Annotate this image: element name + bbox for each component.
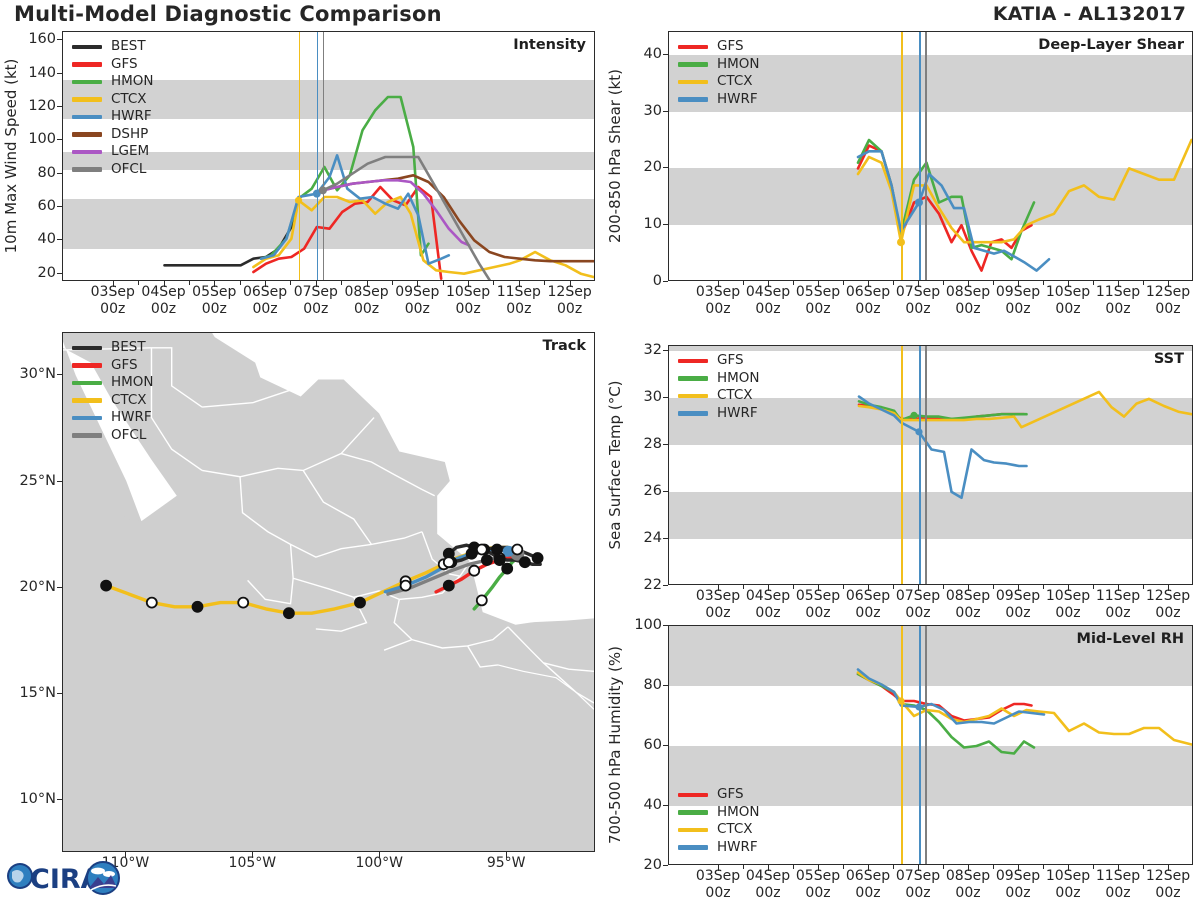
hwrf-init-line xyxy=(919,346,921,584)
x-tick-mark xyxy=(519,281,520,287)
chart-panel-sst: SSTGFSHMONCTCXHWRF xyxy=(668,345,1193,585)
y-tick-mark xyxy=(663,281,668,282)
y-tick-mark xyxy=(57,139,62,140)
y-tick-mark xyxy=(663,865,668,866)
y-tick-label: 60 xyxy=(18,198,56,214)
legend-label: GFS xyxy=(111,359,138,373)
x-tick-mark xyxy=(1018,281,1019,287)
track-point-marker xyxy=(492,545,502,555)
y-tick-label: 30 xyxy=(624,389,662,405)
legend-label: GFS xyxy=(717,40,744,54)
legend-item-ctcx[interactable]: CTCX xyxy=(72,91,154,109)
ctcx-init-line xyxy=(901,626,903,864)
y-tick-label: 100 xyxy=(18,131,56,147)
track-point-marker xyxy=(238,598,248,608)
series-deep-layer-shear-CTCX xyxy=(858,140,1192,242)
y-tick-label: 10 xyxy=(624,216,662,232)
y-tick-label: 160 xyxy=(18,31,56,47)
legend-label: OFCL xyxy=(111,429,146,443)
legend-sst: GFSHMONCTCXHWRF xyxy=(678,352,760,422)
legend-swatch-hwrf xyxy=(72,115,102,120)
legend-label: HMON xyxy=(717,372,760,386)
hmon-init-marker xyxy=(910,412,917,419)
ofcl-init-line xyxy=(925,346,927,584)
ofcl-init-line xyxy=(925,626,927,864)
track-point-marker xyxy=(444,557,454,567)
x-tick-hour: 00z xyxy=(1138,605,1198,622)
legend-swatch-hwrf xyxy=(678,845,708,850)
legend-item-gfs[interactable]: GFS xyxy=(72,357,154,375)
lat-tick-label: 30°N xyxy=(6,366,56,382)
y-tick-mark xyxy=(663,745,668,746)
legend-swatch-hwrf xyxy=(72,416,102,421)
x-tick-mark xyxy=(265,281,266,287)
legend-item-gfs[interactable]: GFS xyxy=(72,56,154,74)
track-point-marker xyxy=(101,581,111,591)
legend-item-hwrf[interactable]: HWRF xyxy=(72,409,154,427)
chart-panel-intensity: IntensityBESTGFSHMONCTCXHWRFDSHPLGEMOFCL xyxy=(62,31,595,281)
lat-tick-label: 15°N xyxy=(6,685,56,701)
y-tick-mark xyxy=(663,625,668,626)
legend-swatch-best xyxy=(72,45,102,50)
hwrf-init-line xyxy=(317,32,319,280)
x-tick-label: 12Sep00z xyxy=(1138,284,1198,317)
legend-label: HMON xyxy=(717,58,760,72)
legend-label: GFS xyxy=(717,788,744,802)
cira-logo: CIRA xyxy=(4,852,122,898)
legend-swatch-gfs xyxy=(72,62,102,67)
x-tick-mark xyxy=(1018,585,1019,591)
x-tick-mark xyxy=(968,865,969,871)
lon-tick-mark xyxy=(252,852,253,858)
legend-swatch-ctcx xyxy=(72,398,102,403)
x-tick-mark xyxy=(868,865,869,871)
legend-label: OFCL xyxy=(111,163,146,177)
legend-track: BESTGFSHMONCTCXHWRFOFCL xyxy=(72,339,154,444)
y-tick-mark xyxy=(663,111,668,112)
legend-label: CTCX xyxy=(717,389,753,403)
legend-mid-level-rh: GFSHMONCTCXHWRF xyxy=(678,786,760,856)
legend-item-lgem[interactable]: LGEM xyxy=(72,143,154,161)
y-axis-label-sst: Sea Surface Temp (°C) xyxy=(606,380,624,549)
page-title: Multi-Model Diagnostic Comparison xyxy=(14,2,442,26)
track-point-marker xyxy=(284,608,294,618)
x-tick-mark xyxy=(1168,865,1169,871)
x-tick-mark xyxy=(417,281,418,287)
y-tick-mark xyxy=(663,444,668,445)
track-point-marker xyxy=(520,557,530,567)
y-axis-label-mid-level-rh: 700-500 hPa Humidity (%) xyxy=(606,646,624,844)
legend-label: HWRF xyxy=(111,411,152,425)
y-tick-label: 28 xyxy=(624,436,662,452)
legend-swatch-ofcl xyxy=(72,167,102,172)
legend-swatch-ctcx xyxy=(678,828,708,833)
y-tick-label: 30 xyxy=(624,103,662,119)
y-tick-mark xyxy=(663,491,668,492)
y-tick-mark xyxy=(57,206,62,207)
y-tick-label: 140 xyxy=(18,65,56,81)
panel-title-intensity: Intensity xyxy=(513,37,586,53)
y-tick-label: 60 xyxy=(624,737,662,753)
x-tick-mark xyxy=(768,585,769,591)
x-tick-label: 12Sep00z xyxy=(1138,588,1198,621)
lon-tick-mark xyxy=(125,852,126,858)
y-tick-mark xyxy=(57,173,62,174)
y-tick-mark xyxy=(57,239,62,240)
lon-tick-mark xyxy=(506,852,507,858)
legend-item-hmon[interactable]: HMON xyxy=(678,804,760,822)
x-tick-mark xyxy=(1068,865,1069,871)
legend-swatch-ctcx xyxy=(678,394,708,399)
x-tick-mark xyxy=(1168,281,1169,287)
x-tick-mark xyxy=(570,281,571,287)
series-mid-level-rh-CTCX xyxy=(858,673,1192,745)
x-tick-mark xyxy=(367,281,368,287)
legend-swatch-gfs xyxy=(678,359,708,364)
legend-item-hwrf[interactable]: HWRF xyxy=(72,108,154,126)
legend-swatch-ctcx xyxy=(72,97,102,102)
x-tick-mark xyxy=(868,585,869,591)
x-tick-label: 12Sep00z xyxy=(1138,868,1198,901)
x-tick-mark xyxy=(718,585,719,591)
lat-tick-mark xyxy=(57,374,62,375)
x-tick-mark xyxy=(316,281,317,287)
x-tick-mark xyxy=(818,281,819,287)
chart-panel-deep-layer-shear: Deep-Layer ShearGFSHMONCTCXHWRF xyxy=(668,31,1193,281)
x-tick-hour: 00z xyxy=(1138,885,1198,902)
legend-label: BEST xyxy=(111,341,146,355)
y-tick-mark xyxy=(663,350,668,351)
legend-item-hwrf[interactable]: HWRF xyxy=(678,91,760,109)
legend-swatch-lgem xyxy=(72,150,102,155)
legend-label: CTCX xyxy=(717,823,753,837)
hwrf-init-line xyxy=(919,626,921,864)
x-tick-mark xyxy=(1118,865,1119,871)
ctcx-init-line xyxy=(299,32,301,280)
x-tick-mark xyxy=(718,865,719,871)
x-tick-mark xyxy=(1068,281,1069,287)
x-tick-mark xyxy=(718,281,719,287)
x-tick-mark xyxy=(918,281,919,287)
series-intensity-DSHP xyxy=(323,175,594,261)
y-tick-mark xyxy=(663,585,668,586)
legend-item-ofcl[interactable]: OFCL xyxy=(72,161,154,179)
panel-title-track: Track xyxy=(543,338,586,354)
x-tick-mark xyxy=(968,585,969,591)
y-tick-label: 0 xyxy=(624,273,662,289)
y-tick-label: 40 xyxy=(18,231,56,247)
lat-tick-mark xyxy=(57,587,62,588)
series-deep-layer-shear-HWRF xyxy=(858,151,1049,270)
legend-item-best[interactable]: BEST xyxy=(72,339,154,357)
y-tick-label: 100 xyxy=(624,617,662,633)
legend-swatch-hmon xyxy=(678,62,708,67)
y-tick-label: 26 xyxy=(624,483,662,499)
x-tick-mark xyxy=(164,281,165,287)
legend-label: DSHP xyxy=(111,128,148,142)
legend-label: GFS xyxy=(717,354,744,368)
legend-item-best[interactable]: BEST xyxy=(72,38,154,56)
x-tick-mark xyxy=(918,865,919,871)
track-point-marker xyxy=(444,581,454,591)
y-tick-mark xyxy=(663,224,668,225)
legend-item-hmon[interactable]: HMON xyxy=(678,56,760,74)
panel-title-deep-layer-shear: Deep-Layer Shear xyxy=(1038,37,1184,53)
legend-label: CTCX xyxy=(111,93,147,107)
x-tick-mark xyxy=(1118,281,1119,287)
x-tick-mark xyxy=(1018,865,1019,871)
lat-tick-label: 20°N xyxy=(6,579,56,595)
x-tick-mark xyxy=(818,585,819,591)
legend-label: HWRF xyxy=(717,407,758,421)
legend-label: HMON xyxy=(111,376,154,390)
legend-label: GFS xyxy=(111,58,138,72)
x-tick-mark xyxy=(918,585,919,591)
legend-label: LGEM xyxy=(111,145,149,159)
track-point-marker xyxy=(401,581,411,591)
legend-item-gfs[interactable]: GFS xyxy=(678,38,760,56)
lon-tick-mark xyxy=(379,852,380,858)
panel-title-sst: SST xyxy=(1154,351,1184,367)
y-tick-mark xyxy=(663,538,668,539)
legend-item-hmon[interactable]: HMON xyxy=(72,374,154,392)
x-tick-mark xyxy=(868,281,869,287)
track-point-marker xyxy=(477,545,487,555)
x-tick-hour: 00z xyxy=(540,301,600,318)
legend-label: HMON xyxy=(111,75,154,89)
legend-item-hwrf[interactable]: HWRF xyxy=(678,405,760,423)
x-tick-mark xyxy=(1118,585,1119,591)
legend-item-gfs[interactable]: GFS xyxy=(678,352,760,370)
legend-swatch-ctcx xyxy=(678,80,708,85)
legend-swatch-ofcl xyxy=(72,433,102,438)
legend-label: BEST xyxy=(111,40,146,54)
y-tick-label: 80 xyxy=(624,677,662,693)
y-tick-mark xyxy=(663,685,668,686)
y-tick-mark xyxy=(57,273,62,274)
track-point-marker xyxy=(469,566,479,576)
y-tick-label: 32 xyxy=(624,342,662,358)
y-tick-label: 40 xyxy=(624,46,662,62)
y-tick-label: 20 xyxy=(624,159,662,175)
legend-item-ctcx[interactable]: CTCX xyxy=(72,392,154,410)
y-tick-mark xyxy=(663,54,668,55)
y-tick-mark xyxy=(663,805,668,806)
legend-label: HWRF xyxy=(111,110,152,124)
legend-swatch-hmon xyxy=(678,810,708,815)
y-tick-label: 20 xyxy=(624,857,662,873)
legend-item-ctcx[interactable]: CTCX xyxy=(678,821,760,839)
y-tick-mark xyxy=(57,39,62,40)
legend-swatch-hmon xyxy=(678,376,708,381)
y-axis-label-deep-layer-shear: 200-850 hPa Shear (kt) xyxy=(606,69,624,243)
track-point-marker xyxy=(533,553,543,563)
legend-item-hmon[interactable]: HMON xyxy=(72,73,154,91)
y-tick-label: 80 xyxy=(18,165,56,181)
y-tick-mark xyxy=(57,106,62,107)
lat-tick-label: 10°N xyxy=(6,791,56,807)
y-tick-label: 40 xyxy=(624,797,662,813)
legend-item-ctcx[interactable]: CTCX xyxy=(678,73,760,91)
legend-item-dshp[interactable]: DSHP xyxy=(72,126,154,144)
x-tick-mark xyxy=(214,281,215,287)
legend-swatch-gfs xyxy=(678,793,708,798)
lat-tick-mark xyxy=(57,799,62,800)
y-axis-label-intensity: 10m Max Wind Speed (kt) xyxy=(2,59,20,254)
ofcl-init-line xyxy=(925,32,927,280)
x-tick-mark xyxy=(818,865,819,871)
x-tick-mark xyxy=(1168,585,1169,591)
legend-label: HWRF xyxy=(717,841,758,855)
x-tick-hour: 00z xyxy=(1138,301,1198,318)
legend-swatch-best xyxy=(72,346,102,351)
lat-tick-mark xyxy=(57,693,62,694)
legend-swatch-dshp xyxy=(72,132,102,137)
ctcx-init-line xyxy=(901,32,903,280)
series-sst-CTCX xyxy=(859,392,1192,427)
legend-swatch-hwrf xyxy=(678,97,708,102)
lat-tick-label: 25°N xyxy=(6,473,56,489)
legend-label: CTCX xyxy=(111,394,147,408)
y-tick-label: 20 xyxy=(18,265,56,281)
y-tick-mark xyxy=(663,397,668,398)
track-point-marker xyxy=(147,598,157,608)
lat-tick-mark xyxy=(57,481,62,482)
legend-intensity: BESTGFSHMONCTCXHWRFDSHPLGEMOFCL xyxy=(72,38,154,178)
track-point-marker xyxy=(495,555,505,565)
hwrf-init-line xyxy=(919,32,921,280)
track-point-marker xyxy=(512,545,522,555)
legend-label: HWRF xyxy=(717,93,758,107)
track-point-marker xyxy=(193,602,203,612)
x-tick-mark xyxy=(968,281,969,287)
legend-item-gfs[interactable]: GFS xyxy=(678,786,760,804)
legend-swatch-hmon xyxy=(72,80,102,85)
track-point-marker xyxy=(502,564,512,574)
legend-item-hwrf[interactable]: HWRF xyxy=(678,839,760,857)
track-point-marker xyxy=(482,555,492,565)
storm-title: KATIA - AL132017 xyxy=(993,3,1186,25)
x-tick-mark xyxy=(468,281,469,287)
x-tick-mark xyxy=(113,281,114,287)
legend-swatch-gfs xyxy=(72,363,102,368)
panel-title-mid-level-rh: Mid-Level RH xyxy=(1077,631,1184,647)
chart-panel-mid-level-rh: Mid-Level RHGFSHMONCTCXHWRF xyxy=(668,625,1193,865)
y-tick-mark xyxy=(57,73,62,74)
series-intensity-LGEM xyxy=(323,180,469,245)
ofcl-init-line xyxy=(323,32,325,280)
x-tick-mark xyxy=(768,281,769,287)
legend-item-hmon[interactable]: HMON xyxy=(678,370,760,388)
track-map-panel[interactable]: BESTGFSHMONCTCXHWRFOFCLTrack xyxy=(62,332,595,852)
series-sst-HWRF xyxy=(859,397,1027,498)
y-tick-label: 24 xyxy=(624,530,662,546)
x-tick-mark xyxy=(1068,585,1069,591)
legend-item-ofcl[interactable]: OFCL xyxy=(72,427,154,445)
legend-swatch-gfs xyxy=(678,45,708,50)
legend-deep-layer-shear: GFSHMONCTCXHWRF xyxy=(678,38,760,108)
y-tick-mark xyxy=(663,167,668,168)
legend-item-ctcx[interactable]: CTCX xyxy=(678,387,760,405)
legend-label: HMON xyxy=(717,806,760,820)
track-point-marker xyxy=(355,598,365,608)
y-tick-label: 120 xyxy=(18,98,56,114)
legend-label: CTCX xyxy=(717,75,753,89)
y-tick-label: 22 xyxy=(624,577,662,593)
legend-swatch-hmon xyxy=(72,381,102,386)
track-point-marker xyxy=(477,595,487,605)
ctcx-init-line xyxy=(901,346,903,584)
track-point-marker xyxy=(467,549,477,559)
legend-swatch-hwrf xyxy=(678,411,708,416)
x-tick-label: 12Sep00z xyxy=(540,284,600,317)
x-tick-mark xyxy=(768,865,769,871)
